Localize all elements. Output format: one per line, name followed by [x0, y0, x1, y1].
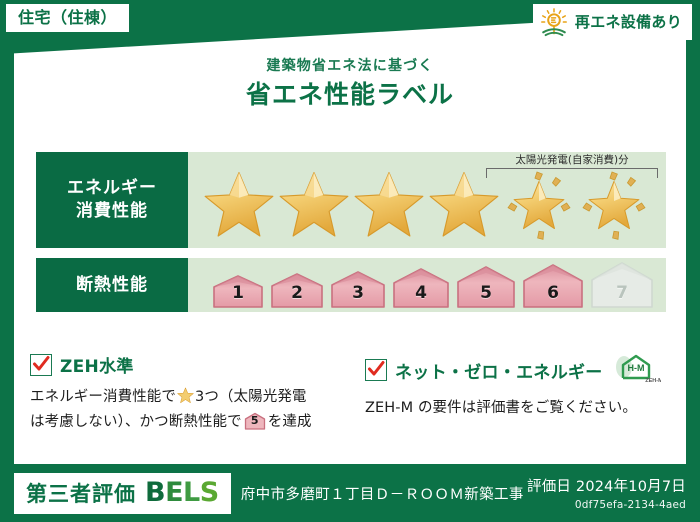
- bels-letter-l: L: [183, 477, 200, 508]
- insulation-level-6: 6: [520, 263, 586, 308]
- renewable-equipment-badge: 再エネ設備あり: [533, 4, 692, 40]
- page-title: 省エネ性能ラベル: [0, 80, 700, 110]
- bels-letter-s: S: [200, 477, 219, 508]
- mini-house-badge: 5: [244, 412, 266, 430]
- insulation-rating-area: 1 2 3: [188, 258, 666, 312]
- net-zero-checkbox[interactable]: [365, 359, 387, 381]
- zeh-m-logo-sub: ZEH-M: [645, 378, 661, 384]
- energy-performance-label: 住宅（住棟） 再エネ設備あり: [0, 0, 700, 522]
- building-type-text: 住宅（住棟）: [18, 8, 117, 27]
- zeh-desc-part2: 3つ（太陽光発電: [195, 389, 307, 405]
- net-zero-heading: ネット・ゼロ・エネルギー H-M ZEH-M: [365, 352, 674, 388]
- check-icon: [367, 360, 385, 378]
- building-type-chip: 住宅（住棟）: [6, 4, 129, 32]
- zeh-standard-heading: ZEH水準: [30, 352, 339, 377]
- insulation-level-scale: 1 2 3: [210, 258, 652, 312]
- insulation-level-1-number: 1: [210, 283, 266, 303]
- zeh-desc-part3: は考慮しない）、かつ断熱性能で: [30, 414, 242, 430]
- bels-letter-b: B: [145, 477, 165, 508]
- insulation-level-7: 7: [588, 261, 656, 308]
- heading-subtitle: 建築物省エネ法に基づく: [0, 58, 700, 75]
- certification-checks: ZEH水準 エネルギー消費性能で 3つ（太陽光発電 は考慮しない）、かつ断熱性能…: [30, 352, 674, 434]
- insulation-level-7-number: 7: [588, 283, 656, 303]
- insulation-performance-row: 断熱性能: [36, 258, 666, 312]
- zeh-desc-part4: を達成: [268, 414, 312, 430]
- label-heading: 建築物省エネ法に基づく 省エネ性能ラベル: [0, 58, 700, 110]
- evaluation-id: 0df75efa-2134-4aed: [527, 499, 686, 511]
- zeh-desc-part1: エネルギー消費性能で: [30, 389, 176, 405]
- insulation-level-2: 2: [268, 272, 326, 308]
- energy-performance-row: エネルギー 消費性能 太陽光発電(自家消費)分: [36, 152, 666, 248]
- insulation-level-5: 5: [454, 265, 518, 308]
- third-party-text: 第三者評価: [26, 478, 136, 508]
- insulation-level-3: 3: [328, 270, 388, 308]
- insulation-level-2-number: 2: [268, 283, 326, 303]
- net-zero-energy-block: ネット・ゼロ・エネルギー H-M ZEH-M ZEH-M の要件は評価書をご覧く…: [349, 352, 674, 434]
- sun-leaf-icon: [539, 7, 569, 37]
- insulation-performance-label: 断熱性能: [36, 258, 188, 312]
- energy-label-line1: エネルギー: [67, 177, 157, 200]
- star-rating: [202, 164, 656, 246]
- bels-letter-e: E: [165, 477, 183, 508]
- insulation-level-3-number: 3: [328, 283, 388, 303]
- zeh-m-logo-icon: H-M ZEH-M: [613, 352, 661, 388]
- zeh-standard-title: ZEH水準: [60, 352, 134, 377]
- net-zero-description: ZEH-M の要件は評価書をご覧ください。: [365, 397, 674, 419]
- energy-rating-area: 太陽光発電(自家消費)分: [188, 152, 666, 248]
- star-6-solar: [577, 167, 652, 243]
- evaluation-date: 評価日 2024年10月7日: [527, 475, 686, 496]
- zeh-m-logo-text: H-M: [627, 363, 644, 373]
- project-name: 府中市多磨町１丁目Ｄ－ＲＯＯＭ新築工事: [241, 483, 527, 504]
- star-2: [277, 170, 352, 240]
- net-zero-title: ネット・ゼロ・エネルギー: [395, 358, 603, 383]
- performance-rows: エネルギー 消費性能 太陽光発電(自家消費)分: [36, 152, 666, 322]
- insulation-level-4-number: 4: [390, 283, 452, 303]
- star-1: [202, 170, 277, 240]
- energy-label-line2: 消費性能: [76, 200, 148, 223]
- label-footer: 第三者評価 BELS 府中市多磨町１丁目Ｄ－ＲＯＯＭ新築工事 評価日 2024年…: [0, 464, 700, 522]
- mini-star-icon: [177, 387, 194, 411]
- insulation-label-text: 断熱性能: [76, 274, 148, 297]
- bels-wordmark: BELS: [145, 479, 219, 506]
- evaluation-meta: 評価日 2024年10月7日 0df75efa-2134-4aed: [527, 475, 686, 511]
- insulation-level-1: 1: [210, 274, 266, 308]
- insulation-level-5-number: 5: [454, 283, 518, 303]
- insulation-level-4: 4: [390, 267, 452, 308]
- check-icon: [32, 355, 50, 373]
- energy-performance-label: エネルギー 消費性能: [36, 152, 188, 248]
- zeh-standard-checkbox[interactable]: [30, 354, 52, 376]
- renewable-badge-text: 再エネ設備あり: [575, 14, 682, 31]
- bels-chip: 第三者評価 BELS: [14, 473, 231, 514]
- star-4: [427, 170, 502, 240]
- star-5-solar: [502, 167, 577, 243]
- insulation-level-6-number: 6: [520, 283, 586, 303]
- zeh-standard-block: ZEH水準 エネルギー消費性能で 3つ（太陽光発電 は考慮しない）、かつ断熱性能…: [30, 352, 349, 434]
- mini-house-level: 5: [244, 412, 266, 429]
- zeh-standard-description: エネルギー消費性能で 3つ（太陽光発電 は考慮しない）、かつ断熱性能で 5 を達…: [30, 386, 339, 434]
- star-3: [352, 170, 427, 240]
